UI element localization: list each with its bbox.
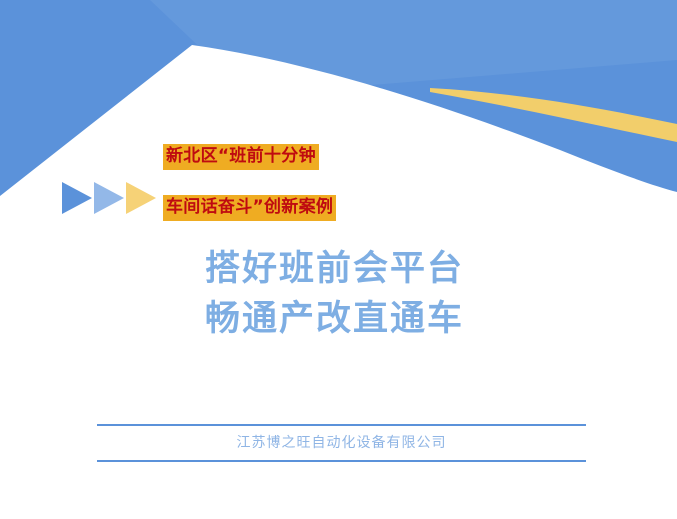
title-line-1: 搭好班前会平台	[205, 244, 505, 294]
company-name: 江苏博之旺自动化设备有限公司	[97, 426, 586, 460]
title-line-2: 畅通产改直通车	[205, 294, 505, 344]
footer: 江苏博之旺自动化设备有限公司	[97, 424, 586, 462]
triangle-arrow-icon-2	[94, 182, 124, 214]
page-title: 搭好班前会平台 畅通产改直通车	[205, 244, 505, 344]
arrow-decoration-group	[62, 182, 156, 214]
subtitle-highlight-line-1: 新北区“班前十分钟	[163, 144, 319, 170]
subtitle-highlight-line-2: 车间话奋斗”创新案例	[163, 195, 336, 221]
triangle-arrow-icon-1	[62, 182, 92, 214]
title-slide: 新北区“班前十分钟 车间话奋斗”创新案例 搭好班前会平台 畅通产改直通车 江苏博…	[0, 0, 677, 519]
triangle-arrow-icon-3	[126, 182, 156, 214]
footer-bottom-rule	[97, 460, 586, 462]
